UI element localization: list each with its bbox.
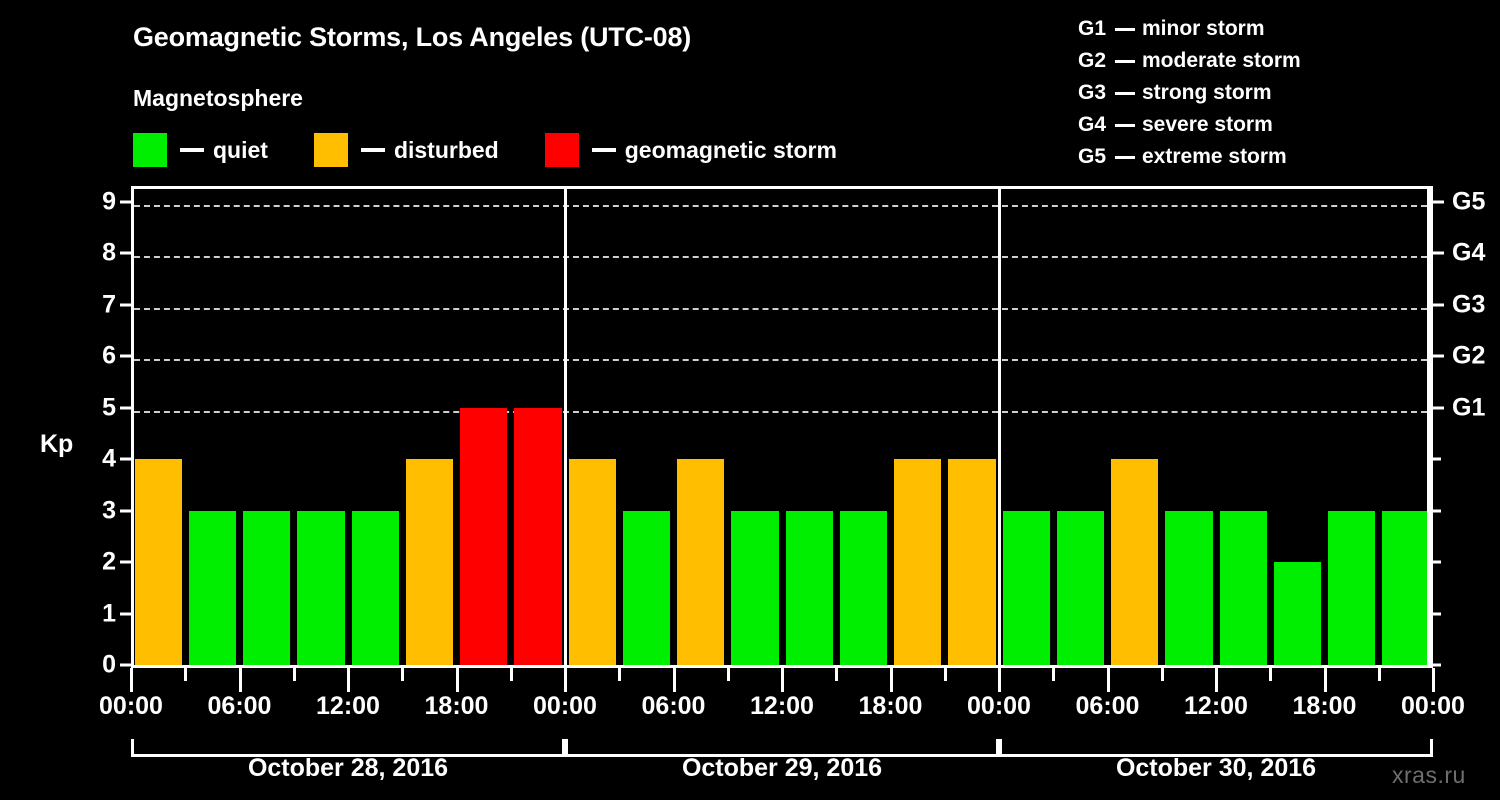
plot-area bbox=[131, 186, 1430, 665]
day-label-1: October 28, 2016 bbox=[131, 754, 565, 783]
bar bbox=[840, 511, 887, 665]
x-minor-tick bbox=[1161, 668, 1164, 681]
right-axis-line bbox=[1430, 186, 1433, 665]
x-major-tick bbox=[347, 668, 350, 692]
x-tick-label: 12:00 bbox=[1184, 692, 1248, 721]
g-minor-tick-8 bbox=[1433, 252, 1441, 255]
x-tick-label: 00:00 bbox=[1401, 692, 1465, 721]
x-minor-tick bbox=[1269, 668, 1272, 681]
g-minor-tick-3 bbox=[1433, 509, 1441, 512]
x-major-tick bbox=[998, 668, 1001, 692]
x-tick-label: 06:00 bbox=[208, 692, 272, 721]
y-tick-label-7: 7 bbox=[102, 290, 116, 319]
g-tick-label-g3: G3 bbox=[1452, 290, 1485, 319]
x-tick-label: 00:00 bbox=[967, 692, 1031, 721]
y-tick-mark-8 bbox=[120, 252, 131, 255]
y-tick-label-1: 1 bbox=[102, 599, 116, 628]
y-tick-mark-1 bbox=[120, 612, 131, 615]
x-tick-label: 06:00 bbox=[642, 692, 706, 721]
bar bbox=[731, 511, 778, 665]
y-tick-mark-4 bbox=[120, 458, 131, 461]
y-tick-label-0: 0 bbox=[102, 651, 116, 680]
bar bbox=[1057, 511, 1104, 665]
watermark: xras.ru bbox=[1392, 762, 1466, 789]
x-minor-tick bbox=[184, 668, 187, 681]
x-minor-tick bbox=[618, 668, 621, 681]
x-major-tick bbox=[781, 668, 784, 692]
day-divider-1 bbox=[564, 186, 567, 665]
x-major-tick bbox=[564, 668, 567, 692]
x-minor-tick bbox=[1378, 668, 1381, 681]
y-tick-mark-5 bbox=[120, 406, 131, 409]
g-minor-tick-9 bbox=[1433, 201, 1441, 204]
g-minor-tick-1 bbox=[1433, 612, 1441, 615]
g-minor-tick-2 bbox=[1433, 561, 1441, 564]
bar bbox=[1003, 511, 1050, 665]
y-tick-label-9: 9 bbox=[102, 188, 116, 217]
bar bbox=[406, 459, 453, 665]
y-axis-title: Kp bbox=[40, 430, 73, 459]
bar bbox=[569, 459, 616, 665]
x-tick-label: 18:00 bbox=[425, 692, 489, 721]
x-tick-label: 06:00 bbox=[1076, 692, 1140, 721]
y-tick-mark-9 bbox=[120, 201, 131, 204]
day-divider-2 bbox=[998, 186, 1001, 665]
x-minor-tick bbox=[944, 668, 947, 681]
bar bbox=[243, 511, 290, 665]
g-minor-tick-5 bbox=[1433, 406, 1441, 409]
bar bbox=[1165, 511, 1212, 665]
g-tick-label-g2: G2 bbox=[1452, 342, 1485, 371]
x-tick-label: 12:00 bbox=[316, 692, 380, 721]
x-minor-tick bbox=[727, 668, 730, 681]
y-tick-mark-2 bbox=[120, 561, 131, 564]
y-tick-label-5: 5 bbox=[102, 393, 116, 422]
x-minor-tick bbox=[835, 668, 838, 681]
bar bbox=[352, 511, 399, 665]
y-tick-mark-0 bbox=[120, 664, 131, 667]
y-tick-mark-6 bbox=[120, 355, 131, 358]
bar bbox=[948, 459, 995, 665]
x-major-tick bbox=[890, 668, 893, 692]
g-minor-tick-4 bbox=[1433, 458, 1441, 461]
x-major-tick bbox=[1107, 668, 1110, 692]
y-tick-label-2: 2 bbox=[102, 548, 116, 577]
x-tick-label: 18:00 bbox=[1293, 692, 1357, 721]
x-major-tick bbox=[673, 668, 676, 692]
x-major-tick bbox=[239, 668, 242, 692]
g-minor-tick-0 bbox=[1433, 664, 1441, 667]
day-label-2: October 29, 2016 bbox=[565, 754, 999, 783]
x-minor-tick bbox=[1052, 668, 1055, 681]
x-tick-label: 00:00 bbox=[533, 692, 597, 721]
day-label-3: October 30, 2016 bbox=[999, 754, 1433, 783]
x-minor-tick bbox=[293, 668, 296, 681]
bar bbox=[135, 459, 182, 665]
bar bbox=[297, 511, 344, 665]
x-major-tick bbox=[1215, 668, 1218, 692]
bar bbox=[1274, 562, 1321, 665]
bar bbox=[1220, 511, 1267, 665]
y-tick-label-6: 6 bbox=[102, 342, 116, 371]
y-tick-label-8: 8 bbox=[102, 239, 116, 268]
bar bbox=[677, 459, 724, 665]
g-tick-label-g1: G1 bbox=[1452, 393, 1485, 422]
y-tick-mark-7 bbox=[120, 303, 131, 306]
bar bbox=[189, 511, 236, 665]
bars-layer bbox=[134, 189, 1427, 665]
g-tick-label-g4: G4 bbox=[1452, 239, 1485, 268]
x-tick-label: 12:00 bbox=[750, 692, 814, 721]
x-major-tick bbox=[1432, 668, 1435, 692]
x-minor-tick bbox=[401, 668, 404, 681]
bar bbox=[514, 408, 561, 665]
bar bbox=[623, 511, 670, 665]
bar bbox=[894, 459, 941, 665]
x-tick-label: 00:00 bbox=[99, 692, 163, 721]
x-major-tick bbox=[456, 668, 459, 692]
bar bbox=[1328, 511, 1375, 665]
y-tick-label-4: 4 bbox=[102, 445, 116, 474]
bar bbox=[1111, 459, 1158, 665]
bar bbox=[460, 408, 507, 665]
g-minor-tick-6 bbox=[1433, 355, 1441, 358]
y-tick-label-3: 3 bbox=[102, 496, 116, 525]
x-major-tick bbox=[1324, 668, 1327, 692]
x-tick-label: 18:00 bbox=[859, 692, 923, 721]
x-minor-tick bbox=[510, 668, 513, 681]
g-minor-tick-7 bbox=[1433, 303, 1441, 306]
bar bbox=[1382, 511, 1429, 665]
y-axis-kp: 0123456789 bbox=[60, 0, 116, 800]
bar bbox=[786, 511, 833, 665]
chart-plot: 0123456789 Kp 00:0006:0012:0018:0000:000… bbox=[0, 0, 1500, 800]
x-major-tick bbox=[130, 668, 133, 692]
g-tick-label-g5: G5 bbox=[1452, 188, 1485, 217]
y-tick-mark-3 bbox=[120, 509, 131, 512]
